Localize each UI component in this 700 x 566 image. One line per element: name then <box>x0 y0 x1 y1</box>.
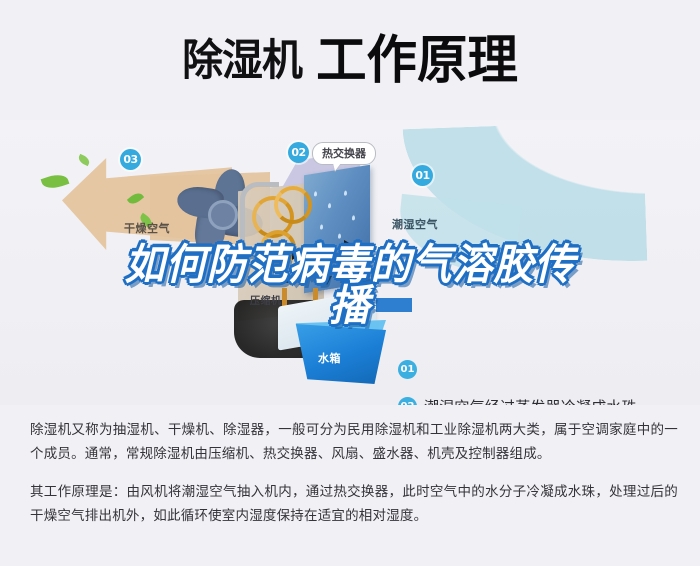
legend-item: 01 <box>398 351 694 388</box>
pipe-coil <box>274 186 312 224</box>
label-water-tank: 水箱 <box>318 350 341 366</box>
leaf-icon <box>77 154 91 166</box>
diagram-badge-01: 01 <box>412 165 433 186</box>
body-copy: 除湿机又称为抽湿机、干燥机、除湿器，一般可分为民用除湿机和工业除湿机两大类，属于… <box>30 418 678 528</box>
page-title: 除湿机 工作原理 <box>0 22 700 100</box>
paragraph-definition: 除湿机又称为抽湿机、干燥机、除湿器，一般可分为民用除湿机和工业除湿机两大类，属于… <box>30 418 678 466</box>
label-dry-air: 干燥空气 <box>124 220 170 236</box>
label-humid-air: 潮湿空气 <box>392 216 438 232</box>
diagram-badge-02: 02 <box>288 142 309 163</box>
legend-badge: 01 <box>398 360 417 379</box>
flow-arrow-icon <box>344 240 353 250</box>
title-part-one: 除湿机 <box>182 40 302 83</box>
label-compressor: 压缩机 <box>250 292 282 307</box>
title-part-two: 工作原理 <box>316 35 518 87</box>
legend-badge: 02 <box>398 397 417 405</box>
flow-arrow-icon <box>322 276 332 285</box>
legend-item: 02 潮湿空气经过蒸发器冷凝成水珠 <box>398 388 694 405</box>
flow-arrow-icon <box>282 274 292 283</box>
legend-list: 01 02 潮湿空气经过蒸发器冷凝成水珠 03 从上部出风口吹出清新干爽空气 <box>398 351 694 405</box>
page-root: 除湿机 工作原理 <box>0 0 700 566</box>
leaf-icon <box>41 171 70 191</box>
paragraph-principle: 其工作原理是：由风机将潮湿空气抽入机内，通过热交换器，此时空气中的水分子冷凝成水… <box>30 480 678 528</box>
dehumidifier-machine <box>232 148 402 378</box>
heat-exchanger-callout: 热交换器 <box>312 142 376 165</box>
pipe-tube <box>240 182 279 268</box>
dehumidifier-diagram: 热交换器 干燥空气 潮湿空气 压缩机 水箱 01 02 03 01 02 潮湿空… <box>0 120 700 405</box>
refrigerant-pipes <box>248 178 320 282</box>
humid-air-stream-tail <box>395 194 522 276</box>
diagram-badge-03: 03 <box>120 149 141 170</box>
flow-arrow-icon <box>292 250 301 260</box>
legend-label: 潮湿空气经过蒸发器冷凝成水珠 <box>424 396 637 405</box>
